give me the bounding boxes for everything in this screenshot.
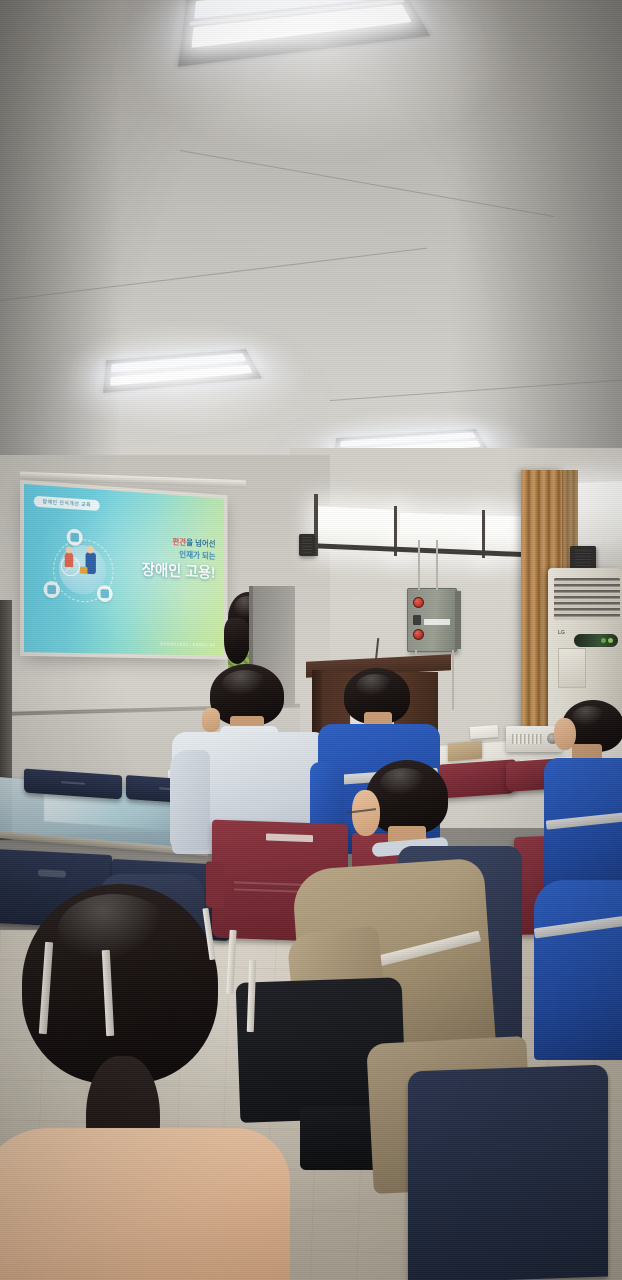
ac-brand-label: LG	[558, 630, 565, 636]
slide-headline-block: 편견을 넘어선 인재가 되는 장애인 고용!	[142, 535, 216, 584]
icon-bubble-right	[97, 585, 113, 602]
emergency-stop-button[interactable]	[413, 597, 424, 608]
attendee-4-lower-body	[534, 880, 622, 1060]
attendee-2-hair-sheen	[356, 674, 394, 698]
briefcase-icon	[80, 567, 88, 574]
attendee-5-top	[0, 1128, 290, 1280]
projection-screen: 장애인 인식개선 교육	[24, 484, 224, 656]
ac-posted-note	[558, 648, 586, 688]
person-attendee-4	[548, 700, 622, 900]
attendee-3-face	[352, 790, 380, 836]
ac-display-panel[interactable]	[574, 634, 618, 647]
attendee-1-hand	[202, 708, 220, 732]
conduit-lower	[452, 650, 454, 710]
wheelchair-handshake-illustration	[45, 529, 119, 609]
standing-person-head	[87, 545, 95, 553]
standing-figure	[84, 545, 97, 579]
panel-switch[interactable]	[413, 615, 421, 625]
slide-subline-2: 인재가 되는	[142, 547, 216, 561]
presentation-slide: 장애인 인식개선 교육	[24, 484, 224, 656]
attendee-4-uniform	[544, 758, 622, 900]
conduit	[436, 540, 438, 590]
papers-on-table	[470, 725, 499, 739]
wall-speaker-left	[299, 534, 315, 556]
slide-line1-rest: 을 넘어선	[186, 538, 215, 549]
panel-nameplate	[424, 619, 450, 625]
panel-indicator	[413, 629, 424, 640]
electrical-control-panel[interactable]	[407, 588, 457, 652]
person-attendee-4-lower	[534, 880, 622, 1060]
attendee-5-hair-sheen	[58, 894, 170, 966]
ceiling-shadow-left	[0, 0, 120, 470]
chair-label-tag	[266, 833, 312, 842]
attendee-3-hair-sheen	[380, 768, 428, 798]
wheelchair-figure	[61, 550, 82, 577]
attendee-1-arm	[170, 750, 210, 850]
ac-vent-grille	[554, 578, 620, 620]
conduit	[418, 540, 420, 590]
chair-navy-foreground[interactable]	[408, 1065, 608, 1280]
projector-vent	[512, 734, 542, 744]
presenter-hair-back	[224, 618, 250, 664]
slide-accent-word: 편견	[172, 537, 186, 547]
wheelchair-person-body	[65, 552, 74, 567]
ceiling-shadow-right	[452, 0, 622, 470]
photo-scene: 장애인 인식개선 교육	[0, 0, 622, 1280]
wheelchair-person-head	[66, 546, 73, 553]
attendee-4-hair-sheen	[572, 706, 606, 728]
attendee-1-hair-sheen	[222, 670, 268, 698]
slide-title: 장애인 고용!	[142, 561, 216, 583]
icon-bubble-top	[67, 529, 83, 547]
icon-bubble-left	[44, 581, 60, 598]
cardboard-box	[448, 741, 482, 762]
panel-lid	[455, 591, 461, 649]
